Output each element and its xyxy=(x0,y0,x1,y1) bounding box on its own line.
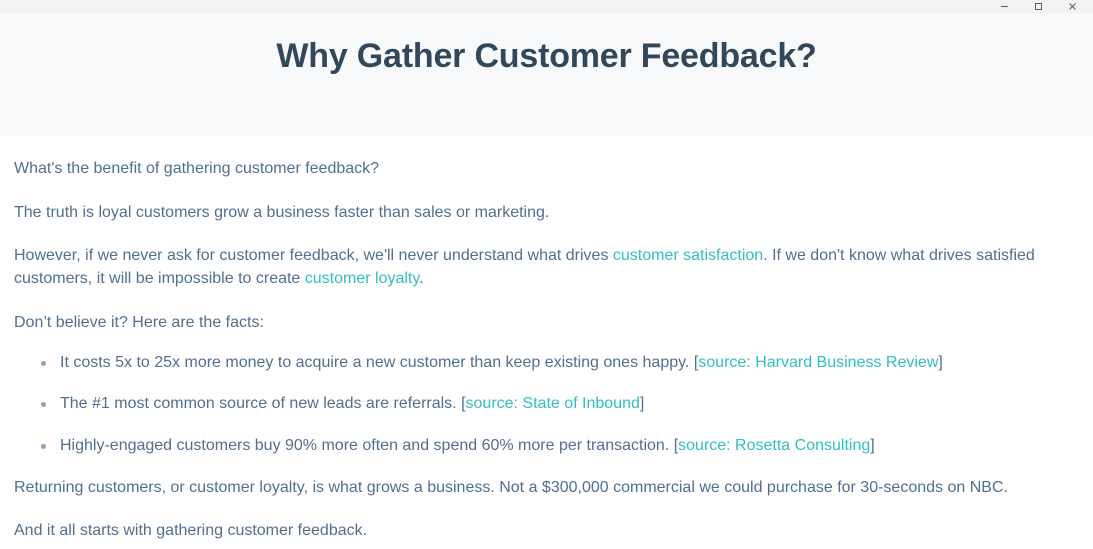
returning-customers-paragraph: Returning customers, or customer loyalty… xyxy=(14,477,1064,500)
list-item: Highly-engaged customers buy 90% more of… xyxy=(14,435,1079,458)
close-icon xyxy=(1067,1,1078,12)
window-minimize-button[interactable] xyxy=(987,0,1021,13)
source-link-rosetta-consulting[interactable]: source: Rosetta Consulting xyxy=(678,437,870,454)
facts-list: It costs 5x to 25x more money to acquire… xyxy=(14,352,1079,458)
source-link-state-of-inbound[interactable]: source: State of Inbound xyxy=(466,395,640,412)
source-link-harvard-business-review[interactable]: source: Harvard Business Review xyxy=(698,354,938,371)
bullet-dot-icon xyxy=(41,444,46,449)
list-item: The #1 most common source of new leads a… xyxy=(14,393,1079,416)
customer-loyalty-link[interactable]: customer loyalty xyxy=(305,270,419,287)
fact-text: Highly-engaged customers buy 90% more of… xyxy=(60,437,674,454)
however-text-part-3: . xyxy=(419,270,423,287)
however-paragraph: However, if we never ask for customer fe… xyxy=(14,245,1064,290)
page-title: Why Gather Customer Feedback? xyxy=(276,35,816,78)
source-close-bracket: ] xyxy=(870,437,874,454)
source-close-bracket: ] xyxy=(640,395,644,412)
however-text-part-1: However, if we never ask for customer fe… xyxy=(14,247,613,264)
truth-paragraph: The truth is loyal customers grow a busi… xyxy=(14,202,1064,225)
source-close-bracket: ] xyxy=(938,354,942,371)
page-hero-banner: Why Gather Customer Feedback? xyxy=(0,13,1093,136)
intro-question-paragraph: What's the benefit of gathering customer… xyxy=(14,158,1064,181)
window-titlebar xyxy=(0,0,1093,13)
maximize-icon xyxy=(1033,1,1044,12)
facts-lead-in-paragraph: Don’t believe it? Here are the facts: xyxy=(14,312,1064,335)
bullet-dot-icon xyxy=(41,402,46,407)
closing-paragraph: And it all starts with gathering custome… xyxy=(14,520,1064,543)
list-item: It costs 5x to 25x more money to acquire… xyxy=(14,352,1079,375)
window-maximize-button[interactable] xyxy=(1021,0,1055,13)
minimize-icon xyxy=(999,1,1010,12)
fact-text: It costs 5x to 25x more money to acquire… xyxy=(60,354,694,371)
window-close-button[interactable] xyxy=(1055,0,1089,13)
bullet-dot-icon xyxy=(41,361,46,366)
article-body: What's the benefit of gathering customer… xyxy=(0,136,1093,543)
customer-satisfaction-link[interactable]: customer satisfaction xyxy=(613,247,763,264)
fact-text: The #1 most common source of new leads a… xyxy=(60,395,461,412)
